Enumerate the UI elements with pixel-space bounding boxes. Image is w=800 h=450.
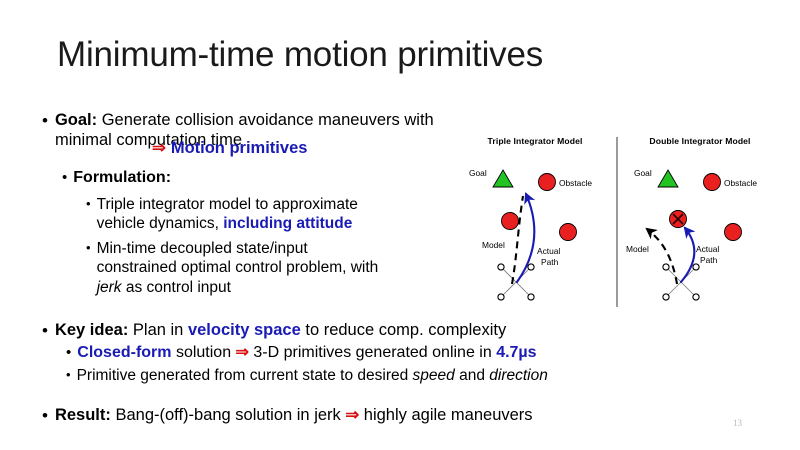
closed-form-timing: 4.7µs xyxy=(496,344,536,361)
obstacle-circle-icon xyxy=(704,174,721,191)
bullet-triple-integrator-text: Triple integrator model to approximate v… xyxy=(97,195,386,234)
obstacle-circle-icon xyxy=(539,174,556,191)
bullet-formulation: • Formulation: xyxy=(62,168,362,188)
bullet-glyph-icon: • xyxy=(42,112,48,129)
double-arrow-icon: ⇒ xyxy=(345,406,359,424)
bullet-glyph-icon: • xyxy=(42,407,48,424)
bullet-glyph-icon: • xyxy=(86,197,91,210)
goal-triangle-icon xyxy=(658,170,678,187)
actual-path-arrow xyxy=(681,228,694,282)
bullet-key-idea: • Key idea: Plan in velocity space to re… xyxy=(42,320,602,340)
result-part-b: highly agile maneuvers xyxy=(359,406,532,424)
bullet-result-text: Result: Bang-(off)-bang solution in jerk… xyxy=(55,405,533,425)
bullet-closed-form-text: Closed-form solution ⇒ 3-D primitives ge… xyxy=(77,343,536,363)
quadrotor-rotor-icon xyxy=(693,264,699,270)
obstacle-label: Obstacle xyxy=(559,178,592,188)
quadrotor-rotor-icon xyxy=(528,264,534,270)
bullet-closed-form: • Closed-form solution ⇒ 3-D primitives … xyxy=(66,343,656,363)
bullet-glyph-icon: • xyxy=(86,241,91,254)
slide-number: 13 xyxy=(733,418,742,428)
bullet-glyph-icon: • xyxy=(62,170,67,185)
bullet-formulation-text: Formulation: xyxy=(73,168,171,188)
bullet-glyph-icon: • xyxy=(42,322,48,339)
primitive-part-c: and xyxy=(455,367,489,384)
key-idea-part-a: Plan in xyxy=(128,321,188,339)
key-idea-label: Key idea: xyxy=(55,321,128,339)
bullet-primitive: • Primitive generated from current state… xyxy=(66,366,666,385)
triple-integrator-highlight: including attitude xyxy=(223,215,352,232)
goal-label: Goal xyxy=(634,168,652,178)
bullet-glyph-icon: • xyxy=(66,345,71,360)
figure-divider xyxy=(616,137,618,307)
model-path-arrow xyxy=(647,229,677,284)
bullet-triple-integrator: • Triple integrator model to approximate… xyxy=(86,195,386,234)
motion-primitives-text: ⇒Motion primitives xyxy=(152,138,307,158)
slide: Minimum-time motion primitives • Goal: G… xyxy=(0,0,800,450)
obstacle-circle-icon xyxy=(560,224,577,241)
actual-path-label-line2: Path xyxy=(541,257,559,267)
quadrotor-rotor-icon xyxy=(528,294,534,300)
obstacle-circle-icon xyxy=(725,224,742,241)
primitive-emphasis-direction: direction xyxy=(489,367,548,384)
closed-form-highlight: Closed-form xyxy=(77,344,171,361)
bullet-key-idea-text: Key idea: Plan in velocity space to redu… xyxy=(55,320,506,340)
bullet-body: • Goal: Generate collision avoidance man… xyxy=(0,0,470,450)
panel-double-diagram: Goal Obstacle Model Actual Path xyxy=(620,132,780,312)
min-time-part-c: as control input xyxy=(122,279,231,296)
bullet-glyph-icon: • xyxy=(66,368,71,381)
model-label: Model xyxy=(482,240,505,250)
closed-form-part-c: 3-D primitives generated online in xyxy=(249,344,496,361)
result-label: Result: xyxy=(55,406,111,424)
bullet-motion-primitives: ⇒Motion primitives xyxy=(152,138,452,158)
bullet-goal-label: Goal: xyxy=(55,111,97,129)
key-idea-part-c: to reduce comp. complexity xyxy=(301,321,506,339)
obstacle-circle-icon xyxy=(502,213,519,230)
goal-triangle-icon xyxy=(493,170,513,187)
goal-label: Goal xyxy=(469,168,487,178)
quadrotor-rotor-icon xyxy=(498,264,504,270)
min-time-part-a: Min-time decoupled state/input constrain… xyxy=(97,240,379,276)
key-idea-highlight: velocity space xyxy=(188,321,301,339)
panel-triple-diagram: Goal Obstacle Model Actual Path xyxy=(455,132,615,312)
bullet-result: • Result: Bang-(off)-bang solution in je… xyxy=(42,405,602,425)
actual-path-label-line2: Path xyxy=(700,255,718,265)
quadrotor-rotor-icon xyxy=(498,294,504,300)
model-label: Model xyxy=(626,244,649,254)
model-path-arrow xyxy=(512,196,523,284)
closed-form-part-b: solution xyxy=(172,344,236,361)
bullet-formulation-label: Formulation: xyxy=(73,169,171,186)
quadrotor-rotor-icon xyxy=(693,294,699,300)
bullet-primitive-text: Primitive generated from current state t… xyxy=(77,366,548,385)
panel-triple-integrator: Triple Integrator Model xyxy=(455,132,615,312)
result-part-a: Bang-(off)-bang solution in jerk xyxy=(111,406,346,424)
bullet-min-time: • Min-time decoupled state/input constra… xyxy=(86,239,386,297)
actual-path-label-line1: Actual xyxy=(537,246,560,256)
double-arrow-icon: ⇒ xyxy=(236,344,249,361)
motion-primitives-label: Motion primitives xyxy=(171,139,308,157)
quadrotor-rotor-icon xyxy=(663,264,669,270)
quadrotor-rotor-icon xyxy=(663,294,669,300)
figure-integrator-models: Triple Integrator Model xyxy=(455,132,795,312)
min-time-emphasis: jerk xyxy=(97,279,122,296)
bullet-min-time-text: Min-time decoupled state/input constrain… xyxy=(97,239,386,297)
double-arrow-icon: ⇒ xyxy=(152,139,166,157)
obstacle-label: Obstacle xyxy=(724,178,757,188)
panel-double-integrator: Double Integrator Model xyxy=(620,132,780,312)
actual-path-label-line1: Actual xyxy=(696,244,719,254)
primitive-part-a: Primitive generated from current state t… xyxy=(77,367,413,384)
primitive-emphasis-speed: speed xyxy=(413,367,455,384)
